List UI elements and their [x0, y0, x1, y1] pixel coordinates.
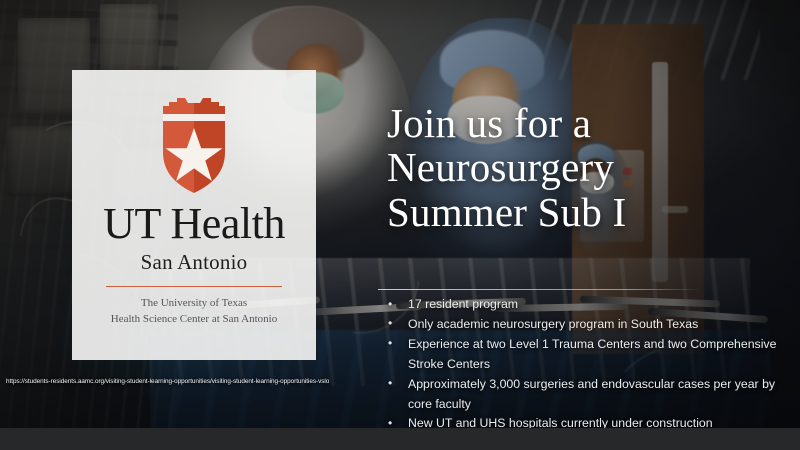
list-item: Experience at two Level 1 Trauma Centers…	[381, 335, 793, 375]
ut-health-shield-icon	[157, 96, 231, 196]
slide-title-line-2: Neurosurgery	[387, 145, 787, 189]
list-item: Approximately 3,000 surgeries and endova…	[381, 375, 793, 415]
logo-tagline-line2: Health Science Center at San Antonio	[111, 312, 277, 328]
list-item: Only academic neurosurgery program in So…	[381, 315, 793, 335]
presentation-slide: UT Health San Antonio The University of …	[0, 0, 800, 450]
ut-health-logo-card: UT Health San Antonio The University of …	[72, 70, 316, 360]
list-item: 17 resident program	[381, 295, 793, 315]
bottom-bar	[0, 428, 800, 450]
slide-title: Join us for a Neurosurgery Summer Sub I	[387, 101, 787, 234]
slide-title-line-1: Join us for a	[387, 101, 787, 145]
vslo-url-link[interactable]: https://students-residents.aamc.org/visi…	[6, 378, 329, 385]
logo-tagline-line1: The University of Texas	[111, 296, 277, 312]
logo-wordmark: UT Health	[103, 202, 285, 246]
logo-location: San Antonio	[141, 250, 248, 275]
highlights-list: 17 resident program Only academic neuros…	[381, 295, 793, 434]
logo-divider	[106, 286, 282, 287]
slide-title-line-3: Summer Sub I	[387, 190, 787, 234]
content-divider	[378, 289, 700, 290]
logo-tagline: The University of Texas Health Science C…	[111, 296, 277, 328]
